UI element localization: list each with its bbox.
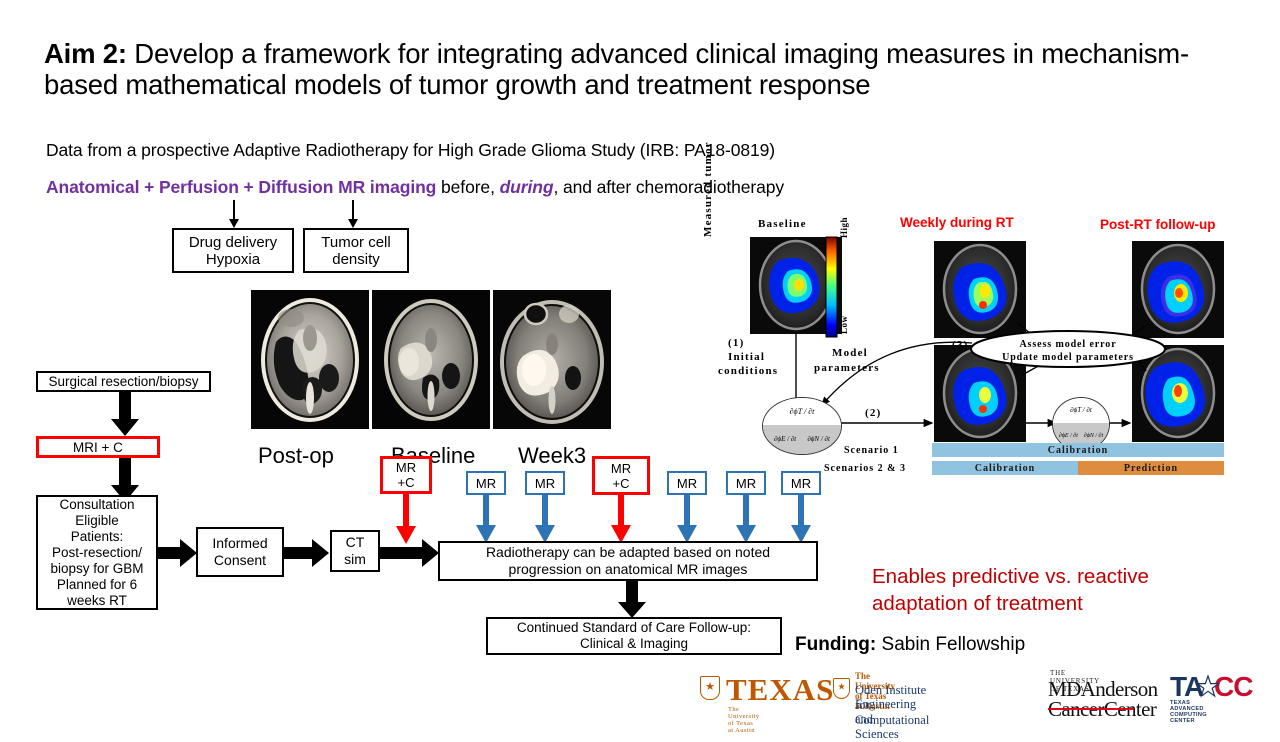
arrow-baseline-scan-down — [394, 494, 418, 544]
scan-box-mr-2: MR — [525, 471, 565, 495]
title-rest: Develop a framework for integrating adva… — [44, 38, 1189, 100]
tacc-tagline: TEXAS ADVANCED COMPUTING CENTER — [1170, 700, 1207, 724]
ctsim-line1: CT — [346, 534, 365, 551]
box-drug-delivery-hypoxia: Drug delivery Hypoxia — [172, 228, 294, 273]
drug-delivery-line2: Hypoxia — [206, 251, 260, 268]
arrow-consultation-to-consent — [158, 538, 196, 568]
arrow-surgical-to-mri — [110, 392, 140, 436]
funding-label: Funding: — [795, 634, 876, 655]
model-parameters-line2: parameters — [814, 362, 880, 374]
box-consultation-eligibility: Consultation Eligible Patients: Post-res… — [36, 495, 158, 610]
study-subtitle: Data from a prospective Adaptive Radioth… — [46, 140, 775, 161]
arrow-week3-scan-down — [609, 495, 633, 545]
followup-line1: Continued Standard of Care Follow-up: — [517, 620, 751, 636]
logo-bar: TEXAS The University of Texas at Austin … — [0, 663, 1280, 720]
ut-texas-wordmark: TEXAS — [726, 672, 834, 708]
box-tumor-cell-density: Tumor cell density — [303, 228, 409, 273]
scenario1-label: Scenario 1 — [844, 445, 899, 456]
tumor-cell-line2: density — [332, 251, 380, 268]
ctsim-line2: sim — [344, 551, 366, 568]
tacc-texas-star-icon — [1196, 673, 1220, 703]
arrow-mr-1-down — [474, 495, 498, 545]
scan-baseline-line2: +C — [398, 475, 415, 490]
callout-line1: Enables predictive vs. reactive — [872, 563, 1252, 590]
ut-shield-icon — [700, 676, 720, 700]
callout-line2: adaptation of treatment — [872, 590, 1252, 617]
imaging-subtitle: Anatomical + Perfusion + Diffusion MR im… — [46, 177, 784, 198]
scan-baseline-line1: MR — [396, 460, 416, 475]
assess-update-params-line2: Update model parameters — [988, 352, 1148, 363]
logo-oden-institute: The University of Texas at Austin Oden I… — [833, 668, 850, 689]
arrow-mr-6-down — [789, 495, 813, 545]
scan-box-week3-mr-c: MR +C — [592, 456, 650, 495]
box-continued-followup: Continued Standard of Care Follow-up: Cl… — [486, 617, 782, 655]
title-aim-prefix: Aim 2: — [44, 38, 127, 69]
mri-image-strip — [251, 290, 611, 429]
logo-ut-texas: TEXAS The University of Texas at Austin — [700, 668, 720, 692]
arrow-diffusion-to-tumor-density — [352, 200, 354, 220]
radiotherapy-line2: progression on anatomical MR images — [509, 561, 748, 578]
colorbar — [826, 237, 837, 337]
slide-root: Aim 2: Develop a framework for integrati… — [0, 0, 1280, 720]
arrow-radiotherapy-to-followup — [617, 581, 647, 621]
colorbar-low-label: Low — [839, 322, 873, 334]
scan-week3-line1: MR — [611, 461, 631, 476]
imaging-during-italic: during — [500, 177, 554, 197]
model-workflow-panel: Measured tumor Baseline Weekly during RT… — [700, 215, 1240, 500]
scenario23-label: Scenarios 2 & 3 — [824, 463, 906, 474]
consent-line2: Consent — [214, 552, 266, 569]
page-title: Aim 2: Develop a framework for integrati… — [44, 38, 1234, 100]
brain-post-rt — [1132, 241, 1224, 338]
mda-strikethrough-bar — [1048, 708, 1134, 710]
pde-circle-1: ∂ϕT / ∂t ∂ϕE / ∂t ∂ϕN / ∂t — [762, 397, 842, 455]
mri-strip-svg — [251, 290, 611, 429]
funding-value: Sabin Fellowship — [882, 634, 1026, 655]
arrow-mr-2-down — [533, 495, 557, 545]
scan-week3-line2: +C — [613, 476, 630, 491]
box-ct-sim: CT sim — [330, 530, 380, 572]
tumor-cell-line1: Tumor cell — [321, 234, 390, 251]
scan-box-baseline-mr-c: MR +C — [380, 456, 432, 494]
oden-shield-icon — [833, 678, 850, 699]
arrow-mr-5-down — [734, 495, 758, 545]
arrow-consent-to-ctsim — [284, 538, 330, 568]
model-diagram-svg — [700, 215, 1240, 500]
followup-line2: Clinical & Imaging — [580, 636, 688, 652]
scenario1-calibration-bar: Calibration — [932, 443, 1224, 457]
step1-number: (1) — [728, 337, 744, 349]
scenario23-prediction-bar: Prediction — [1078, 461, 1224, 475]
arrow-perfusion-to-drug-delivery — [233, 200, 235, 220]
imaging-modalities-highlight: Anatomical + Perfusion + Diffusion MR im… — [46, 177, 436, 197]
mri-label-postop: Post-op — [258, 443, 334, 469]
funding-line: Funding: Sabin Fellowship — [795, 634, 1025, 656]
imaging-plain-before: before, — [436, 177, 499, 197]
ut-texas-tagline: The University of Texas at Austin — [728, 706, 759, 734]
scan-box-mr-1: MR — [466, 471, 506, 495]
consultation-text: Consultation Eligible Patients: Post-res… — [50, 497, 143, 609]
callout-enables: Enables predictive vs. reactive adaptati… — [872, 563, 1252, 617]
scenario23-calibration-bar: Calibration — [932, 461, 1078, 475]
colorbar-high-label: High — [839, 226, 873, 238]
model-parameters-line1: Model — [832, 347, 868, 359]
box-informed-consent: Informed Consent — [196, 527, 284, 577]
radiotherapy-line1: Radiotherapy can be adapted based on not… — [486, 544, 770, 561]
imaging-plain-after: , and after chemoradiotherapy — [553, 177, 784, 197]
drug-delivery-line1: Drug delivery — [189, 234, 277, 251]
arrow-mr-4-down — [675, 495, 699, 545]
brain-weekly-rt — [934, 241, 1026, 338]
assess-model-error-line1: Assess model error — [1003, 339, 1133, 350]
step3-number: (3) — [952, 339, 968, 351]
step1-line2: conditions — [718, 365, 778, 377]
step2-number: (2) — [865, 407, 881, 419]
step1-line1: Initial — [728, 351, 765, 363]
box-surgical-resection: Surgical resection/biopsy — [36, 371, 211, 392]
box-radiotherapy-adaptation: Radiotherapy can be adapted based on not… — [438, 541, 818, 581]
box-mri-plus-c: MRI + C — [36, 436, 160, 458]
mri-label-week3: Week3 — [518, 443, 586, 469]
consent-line1: Informed — [212, 535, 267, 552]
